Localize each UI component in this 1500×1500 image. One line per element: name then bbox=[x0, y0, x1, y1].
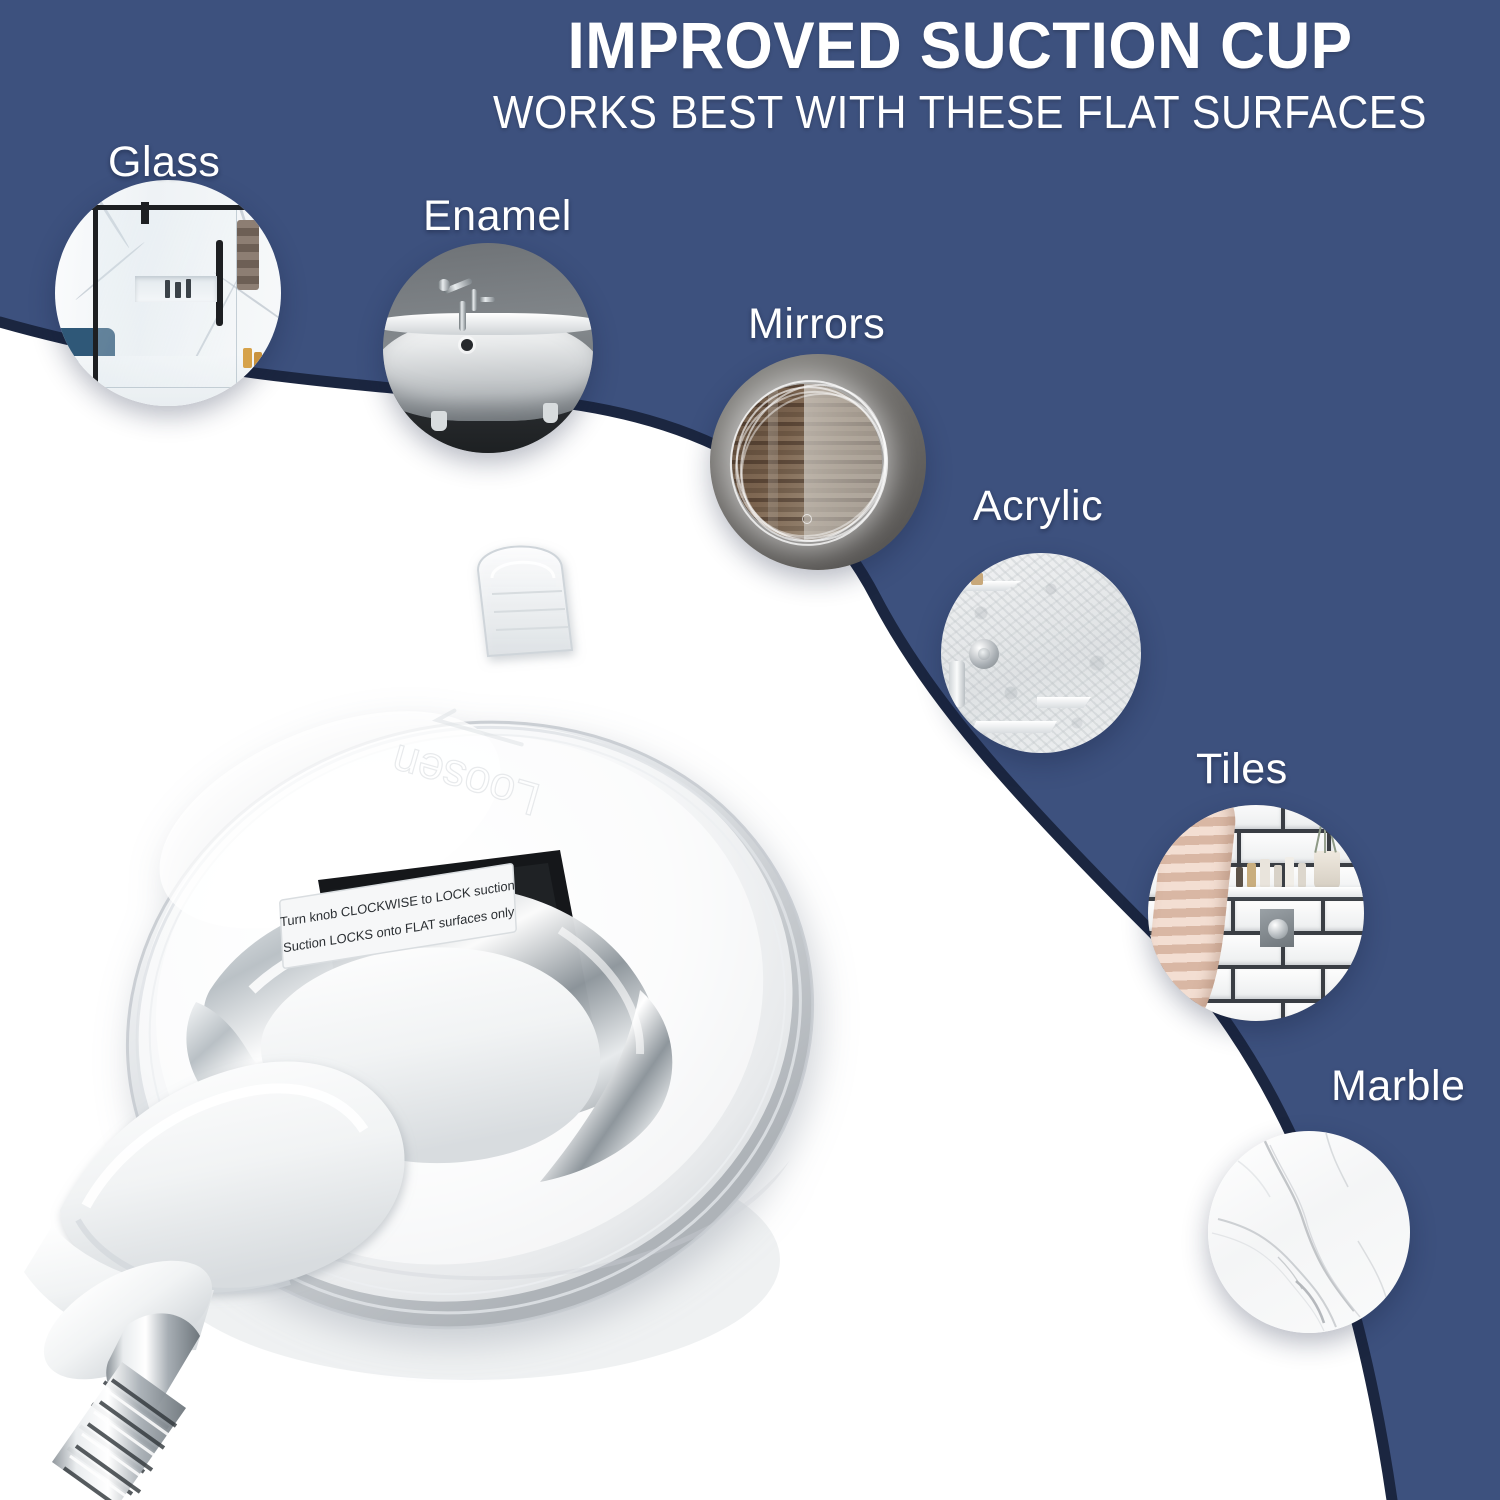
surface-photo-marble bbox=[1208, 1131, 1410, 1333]
surface-photo-acrylic bbox=[941, 553, 1141, 753]
surface-photo-enamel bbox=[383, 243, 593, 453]
surface-photo-glass bbox=[55, 180, 281, 406]
clear-release-tab bbox=[478, 546, 572, 656]
surface-photo-tiles bbox=[1148, 805, 1364, 1021]
product-infographic: IMPROVED SUCTION CUP WORKS BEST WITH THE… bbox=[0, 0, 1500, 1500]
product-image: Loosen Turn knob CLOCKWISE to LOCK sucti… bbox=[0, 520, 920, 1500]
surface-photo-mirrors bbox=[710, 354, 926, 570]
